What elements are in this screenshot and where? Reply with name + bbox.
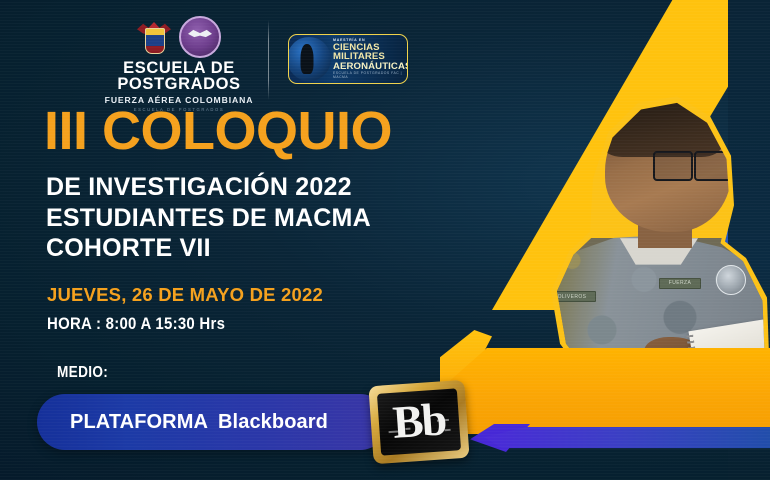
header-divider <box>268 20 269 100</box>
globe-pilot-icon <box>288 37 331 81</box>
hair <box>602 101 722 157</box>
subtitle-block: DE INVESTIGACIÓN 2022 ESTUDIANTES DE MAC… <box>46 172 371 264</box>
blackboard-logotype: Bb <box>391 396 446 446</box>
camouflage-uniform <box>470 232 770 390</box>
shoulder-patch-gold <box>500 304 532 336</box>
poster-canvas: OLIVEROS FUERZA ESCUELA DE POSTGRADOS FU… <box>0 0 770 480</box>
cadet-photo: OLIVEROS FUERZA <box>470 60 770 390</box>
blackboard-chalkboard-icon: Bb <box>368 380 469 465</box>
platform-pill: PLATAFORMABlackboard <box>37 394 388 450</box>
uniform-collar <box>620 238 698 264</box>
wings-circle-emblem-icon <box>179 16 221 58</box>
page-title: III COLOQUIO <box>44 104 392 158</box>
right-edge-shade <box>728 0 770 480</box>
platform-prefix: PLATAFORMA <box>70 411 208 433</box>
orange-chevron-band <box>446 348 770 434</box>
fac-shield-crest-icon <box>137 16 171 58</box>
header: ESCUELA DE POSTGRADOS FUERZA AÉREA COLOM… <box>0 14 430 108</box>
program-line2: AERONÁUTICAS <box>333 62 408 72</box>
subtitle-line-1: DE INVESTIGACIÓN 2022 <box>46 172 371 203</box>
blackboard-frame: Bb <box>368 380 469 465</box>
violet-chevron-tip <box>470 424 530 464</box>
head <box>605 106 731 231</box>
school-logo: ESCUELA DE POSTGRADOS FUERZA AÉREA COLOM… <box>104 14 254 112</box>
name-tag-right: FUERZA <box>659 278 701 289</box>
program-badge: MAESTRÍA EN CIENCIAS MILITARES AERONÁUTI… <box>288 34 408 84</box>
notebook <box>688 317 770 382</box>
blue-diagonal-bar <box>660 0 770 320</box>
school-name: ESCUELA DE POSTGRADOS <box>104 61 254 93</box>
neck <box>638 215 692 248</box>
crest-shield-body <box>145 28 165 54</box>
violet-chevron-band <box>484 427 770 461</box>
name-tag-left: OLIVEROS <box>548 291 596 302</box>
subtitle-line-3: COHORTE VII <box>46 233 371 264</box>
subtitle-line-2: ESTUDIANTES DE MACMA <box>46 203 371 234</box>
shoulder-patch-grey <box>716 265 746 295</box>
glasses-icon <box>653 151 734 177</box>
program-line1: CIENCIAS MILITARES <box>333 43 408 62</box>
hand <box>644 337 702 371</box>
program-badge-text: MAESTRÍA EN CIENCIAS MILITARES AERONÁUTI… <box>331 39 408 79</box>
school-name-line2: POSTGRADOS <box>104 77 254 93</box>
platform-text: PLATAFORMABlackboard <box>37 411 328 434</box>
photo-yellow-outline <box>470 60 770 390</box>
crest-row <box>104 14 254 58</box>
medium-label: MEDIO: <box>57 364 108 382</box>
event-date: JUEVES, 26 DE MAYO DE 2022 <box>47 284 323 306</box>
yellow-diagonal-wedge <box>492 0 770 310</box>
program-footnote: ESCUELA DE POSTGRADOS FAC | MACMA <box>333 72 408 79</box>
photo-body: OLIVEROS FUERZA <box>470 60 770 390</box>
blackboard-surface: Bb <box>377 388 461 455</box>
platform-name: Blackboard <box>208 411 328 433</box>
event-time: HORA : 8:00 A 15:30 Hrs <box>47 314 225 334</box>
